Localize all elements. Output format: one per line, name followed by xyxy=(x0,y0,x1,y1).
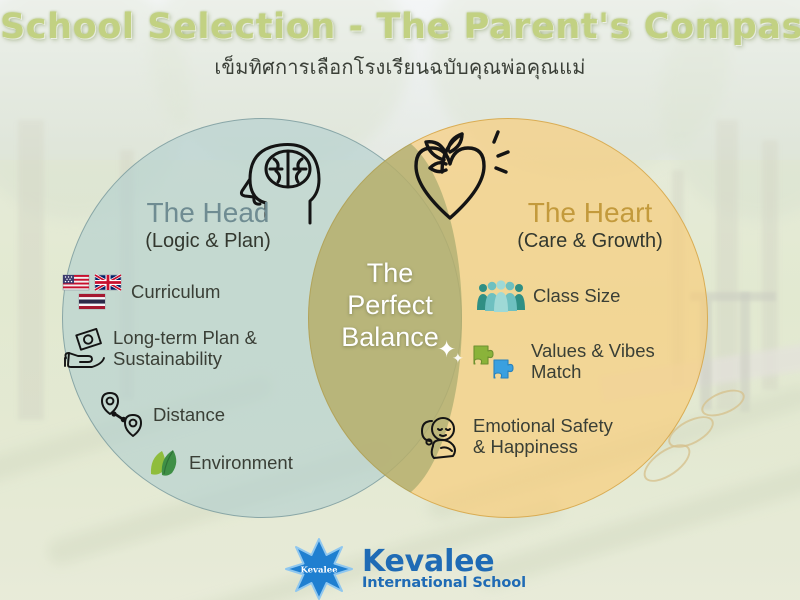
item-label: Environment xyxy=(189,453,293,474)
logo-subtitle: International School xyxy=(362,576,526,591)
item-label: Emotional Safety & Happiness xyxy=(473,416,613,457)
hand-money-icon xyxy=(62,328,106,370)
center-line-1: The xyxy=(310,258,470,290)
leaf-icon xyxy=(148,448,182,478)
item-label: Values & Vibes Match xyxy=(531,341,655,382)
item-label: Long-term Plan & Sustainability xyxy=(113,328,257,369)
flags-icon xyxy=(62,272,124,312)
center-line-3: Balance xyxy=(310,322,470,354)
center-line-2: Perfect xyxy=(310,290,470,322)
heart-subtitle: (Care & Growth) xyxy=(470,230,710,253)
list-item-distance: Distance xyxy=(100,390,225,440)
school-logo[interactable]: Kevalee Kevalee International School xyxy=(284,538,526,600)
list-item-curriculum: Curriculum xyxy=(62,272,220,312)
head-subtitle: (Logic & Plan) xyxy=(88,230,328,253)
star-logo-icon: Kevalee xyxy=(284,538,354,600)
item-label: Curriculum xyxy=(131,282,220,303)
head-title: The Head xyxy=(88,198,328,228)
heart-title: The Heart xyxy=(470,198,710,228)
list-item-longterm-plan: Long-term Plan & Sustainability xyxy=(62,328,257,370)
heart-circle-label: The Heart (Care & Growth) xyxy=(470,198,710,253)
puzzle-pieces-icon xyxy=(470,340,524,384)
item-label: Class Size xyxy=(533,286,620,307)
venn-diagram: The Head (Logic & Plan) The Heart (Care … xyxy=(0,0,800,600)
baby-care-icon xyxy=(416,412,466,462)
venn-center-label: The Perfect Balance xyxy=(310,258,470,354)
poster-canvas: School Selection - The Parent's Compass … xyxy=(0,0,800,600)
list-item-values-vibes: Values & Vibes Match xyxy=(470,340,655,384)
list-item-emotional-safety: Emotional Safety & Happiness xyxy=(416,412,613,462)
item-label: Distance xyxy=(153,405,225,426)
logo-name: Kevalee xyxy=(362,547,526,577)
list-item-class-size: Class Size xyxy=(476,280,620,312)
people-group-icon xyxy=(476,280,526,312)
map-pins-icon xyxy=(100,390,146,440)
star-logo-text: Kevalee xyxy=(300,566,338,576)
head-circle-label: The Head (Logic & Plan) xyxy=(88,198,328,253)
list-item-environment: Environment xyxy=(148,448,293,478)
